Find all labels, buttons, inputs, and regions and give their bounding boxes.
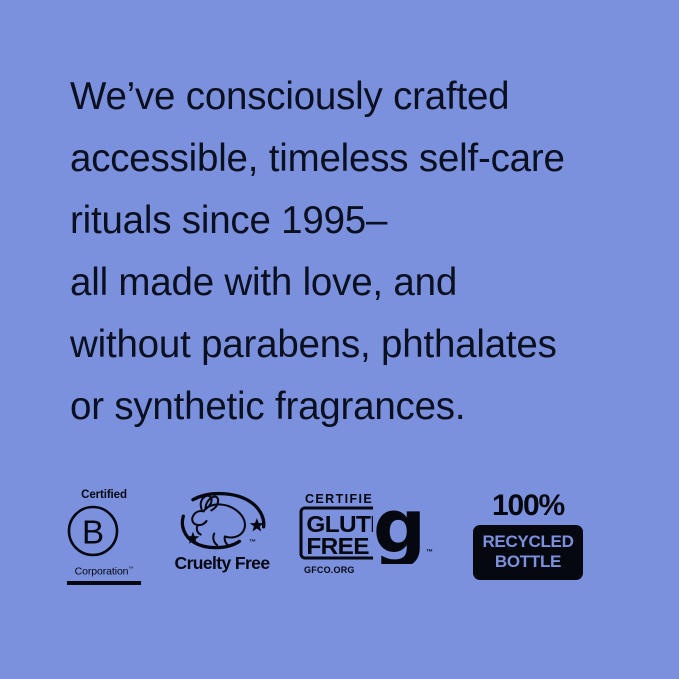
headline-line-1: We’ve consciously crafted <box>70 66 670 128</box>
gluten-free-badge: CERTIFIED GLUTEN FREE g ™ GFCO.ORG <box>299 490 439 576</box>
gluten-free-certified-label: CERTIFIED <box>305 492 384 506</box>
b-corp-certified-label: Certified <box>66 489 142 502</box>
recycled-line-2: BOTTLE <box>473 552 583 572</box>
promo-graphic: We’ve consciously crafted accessible, ti… <box>0 0 679 679</box>
b-corp-corporation-text: Corporation <box>75 566 129 578</box>
certified-gluten-free-icon: CERTIFIED GLUTEN FREE g ™ <box>299 490 439 564</box>
svg-text:g: g <box>373 490 426 564</box>
certification-badge-row: Certified B Corporation™ <box>0 483 679 593</box>
leaping-bunny-icon: ™ <box>170 491 274 551</box>
b-corp-trademark-icon: ™ <box>128 566 133 572</box>
headline-line-4: all made with love, and <box>70 252 670 314</box>
recycled-percent-label: 100% <box>473 489 583 522</box>
recycled-bottle-badge: 100% RECYCLED BOTTLE <box>473 489 583 580</box>
b-corporation-badge: Certified B Corporation™ <box>66 489 142 585</box>
headline-line-5: without parabens, phthalates <box>70 314 670 376</box>
gluten-free-g-mark-icon: g <box>373 490 426 564</box>
bunny-trademark-icon: ™ <box>249 539 256 546</box>
gluten-free-url-label: GFCO.ORG <box>299 565 439 576</box>
headline-line-2: accessible, timeless self-care <box>70 128 670 190</box>
cruelty-free-label: Cruelty Free <box>170 553 274 573</box>
b-corp-corporation-label: Corporation™ <box>66 563 142 578</box>
gluten-free-trademark-icon: ™ <box>426 549 433 556</box>
headline-line-6: or synthetic fragrances. <box>70 376 670 438</box>
headline-block: We’ve consciously crafted accessible, ti… <box>70 66 670 438</box>
headline-line-3: rituals since 1995– <box>70 190 670 252</box>
b-corp-circle-b-icon: B <box>66 504 120 558</box>
gluten-free-line-2: FREE <box>306 535 368 560</box>
recycled-bottle-plate: RECYCLED BOTTLE <box>473 525 583 580</box>
recycled-line-1: RECYCLED <box>473 532 583 552</box>
svg-text:B: B <box>82 514 104 551</box>
b-corp-underline-rule <box>67 581 141 585</box>
cruelty-free-badge: ™ Cruelty Free <box>170 491 274 573</box>
